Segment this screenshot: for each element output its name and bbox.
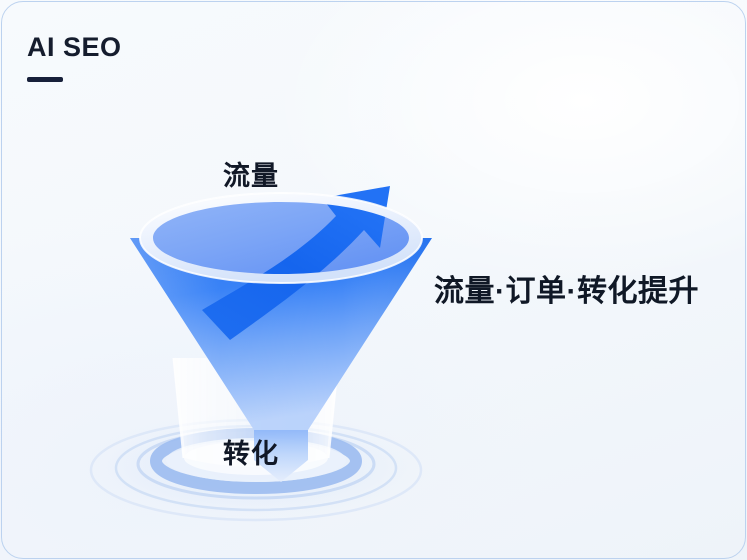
- illustration-canvas: AI SEO 流量·订单·转化提升: [0, 0, 747, 560]
- label-traffic: 流量: [223, 154, 279, 193]
- label-conversion: 转化: [223, 432, 279, 471]
- brand-title-block: AI SEO: [27, 34, 122, 82]
- title-underline-rule: [27, 77, 63, 82]
- page-title: AI SEO: [27, 34, 122, 61]
- headline-text: 流量·订单·转化提升: [434, 275, 699, 308]
